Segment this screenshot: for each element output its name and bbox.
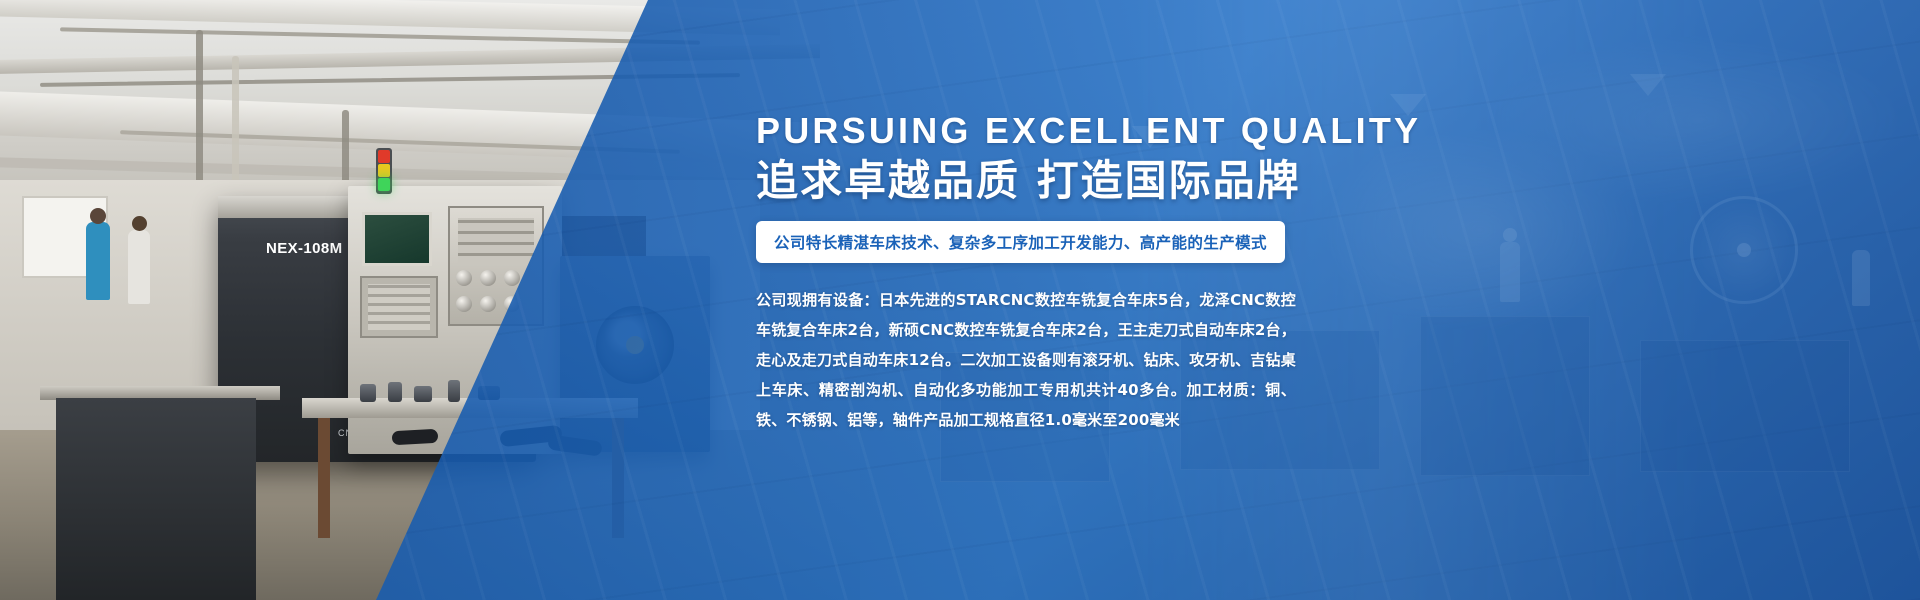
- subtitle-text: 公司特长精湛车床技术、复杂多工序加工开发能力、高产能的生产模式: [774, 234, 1267, 252]
- machined-part: [388, 382, 402, 402]
- banner-content: PURSUING EXCELLENT QUALITY 追求卓越品质 打造国际品牌…: [756, 112, 1304, 435]
- subtitle-box: 公司特长精湛车床技术、复杂多工序加工开发能力、高产能的生产模式: [756, 221, 1285, 263]
- machined-part: [414, 386, 432, 402]
- body-paragraph: 公司现拥有设备：日本先进的STARCNC数控车铣复合车床5台，龙泽CNC数控车铣…: [756, 285, 1296, 435]
- machine-model-label: NEX-108M: [266, 240, 343, 257]
- machined-part: [392, 429, 439, 445]
- control-dial: [480, 296, 496, 312]
- control-dial: [456, 270, 472, 286]
- foreground-cabinet: [56, 398, 256, 600]
- control-dial: [456, 296, 472, 312]
- machined-part: [448, 380, 460, 402]
- worker-silhouette: [1852, 250, 1870, 306]
- cnc-display-screen: [362, 212, 432, 266]
- machine-silhouette: [1640, 340, 1850, 472]
- machined-part: [360, 384, 376, 402]
- workbench-leg: [318, 418, 330, 538]
- hero-banner: NEX-108M TAKISAWA CNC TURNING CENTER: [0, 0, 1920, 600]
- worker-head: [132, 216, 147, 231]
- worker-silhouette: [1500, 242, 1520, 302]
- worker-head: [90, 208, 106, 224]
- headline-english: PURSUING EXCELLENT QUALITY: [756, 112, 1304, 150]
- cnc-keypad: [360, 276, 438, 338]
- worker-silhouette: [86, 222, 110, 300]
- control-dial: [480, 270, 496, 286]
- pendant-lamp-icon: [1630, 74, 1666, 96]
- vertical-conduit: [196, 30, 203, 205]
- headline-chinese: 追求卓越品质 打造国际品牌: [756, 156, 1304, 206]
- worker-head: [1503, 228, 1517, 242]
- stack-light-green: [378, 178, 390, 191]
- worker-silhouette: [128, 230, 150, 304]
- stack-light-yellow: [378, 164, 390, 177]
- machine-silhouette: [1420, 316, 1590, 476]
- ceiling-fan-icon: [1690, 196, 1798, 304]
- stack-light-red: [378, 150, 390, 163]
- control-dial: [504, 270, 520, 286]
